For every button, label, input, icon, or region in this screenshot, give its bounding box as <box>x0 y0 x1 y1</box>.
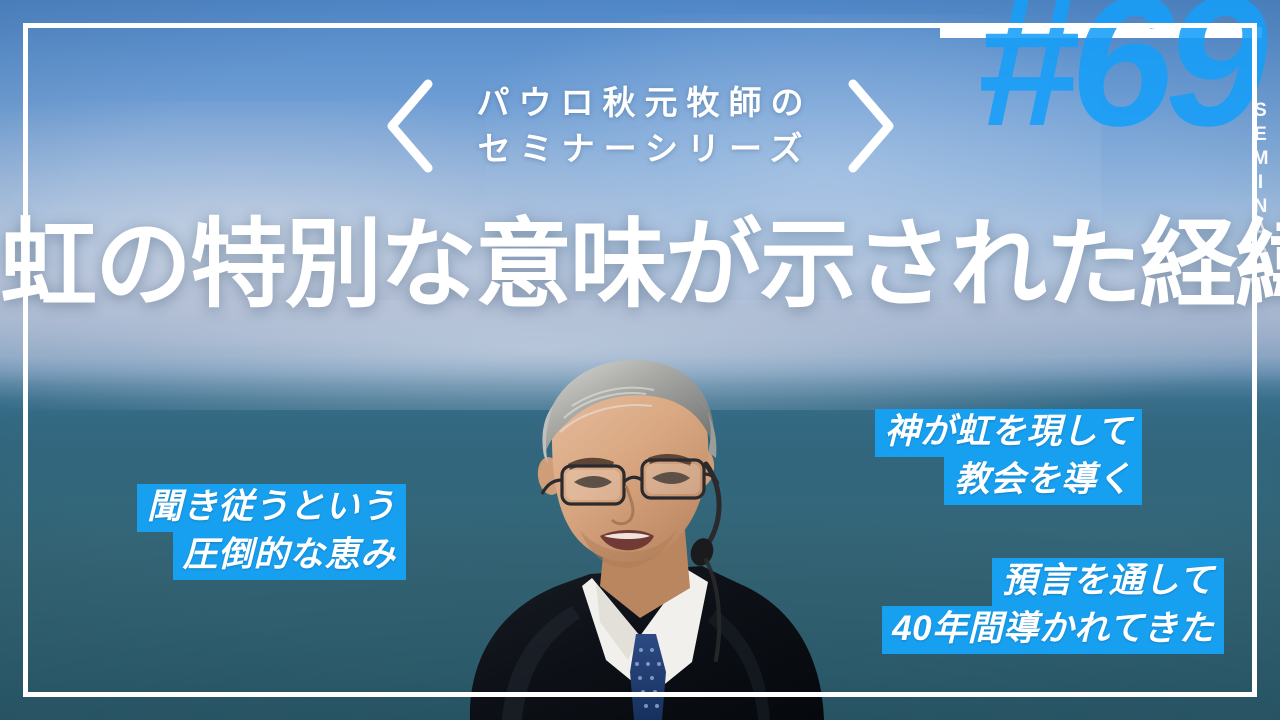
caption-left-line-1: 聞き従うという <box>137 484 406 532</box>
caption-right-top-line-2: 教会を導く <box>944 457 1142 505</box>
chevron-right-icon <box>843 76 899 176</box>
caption-left-line-2: 圧倒的な恵み <box>173 532 406 580</box>
caption-right-top: 神が虹を現して 教会を導く <box>875 409 1142 505</box>
speaker-photo <box>440 360 840 720</box>
caption-right-bottom-line-1: 預言を通して <box>992 558 1224 606</box>
series-line-2: セミナーシリーズ <box>469 128 812 170</box>
caption-left: 聞き従うという 圧倒的な恵み <box>137 484 406 580</box>
thumbnail-canvas: #69 SEMINAR パウロ秋元牧師の セミナーシリーズ 虹の特別な意味が示さ… <box>0 0 1280 720</box>
caption-right-bottom: 預言を通して 40年間導かれてきた <box>882 558 1224 654</box>
chevron-left-icon <box>382 76 438 176</box>
series-line-1: パウロ秋元牧師の <box>468 82 813 124</box>
series-heading: パウロ秋元牧師の セミナーシリーズ <box>0 76 1280 176</box>
caption-right-bottom-line-2: 40年間導かれてきた <box>882 606 1224 654</box>
main-title: 虹の特別な意味が示された経緯 <box>0 214 1280 316</box>
series-text: パウロ秋元牧師の セミナーシリーズ <box>468 82 813 170</box>
caption-right-top-line-1: 神が虹を現して <box>875 409 1142 457</box>
